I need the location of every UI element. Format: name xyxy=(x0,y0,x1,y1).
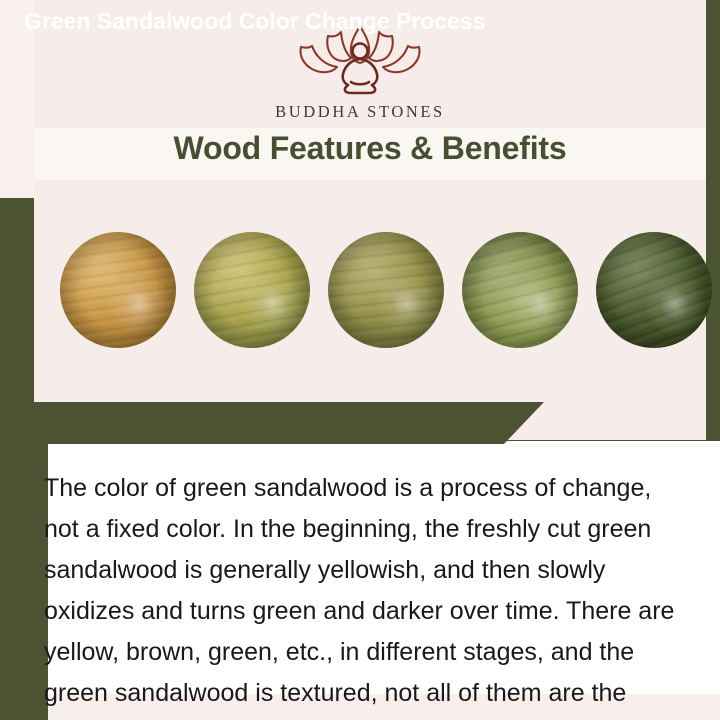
bead-stage-1-yellow-brown xyxy=(60,232,176,348)
section-banner xyxy=(14,402,544,444)
bead-shading xyxy=(60,232,176,348)
brand-wordmark: BUDDHA STONES xyxy=(0,102,720,122)
infographic-poster: BUDDHA STONES Wood Features & Benefits G… xyxy=(0,0,720,720)
page-title: Wood Features & Benefits xyxy=(34,130,706,167)
bead-stage-2-yellow-green xyxy=(194,232,310,348)
bead-stage-4-green xyxy=(462,232,578,348)
bead-shading xyxy=(462,232,578,348)
bead-shading xyxy=(328,232,444,348)
body-paragraph: The color of green sandalwood is a proce… xyxy=(44,468,692,720)
bead-progression-row xyxy=(34,232,706,352)
bead-stage-5-dark-green xyxy=(596,232,712,348)
bead-stage-3-olive xyxy=(328,232,444,348)
section-banner-label: Green Sandalwood Color Change Process xyxy=(24,0,485,42)
bead-shading xyxy=(596,232,712,348)
bead-shading xyxy=(194,232,310,348)
